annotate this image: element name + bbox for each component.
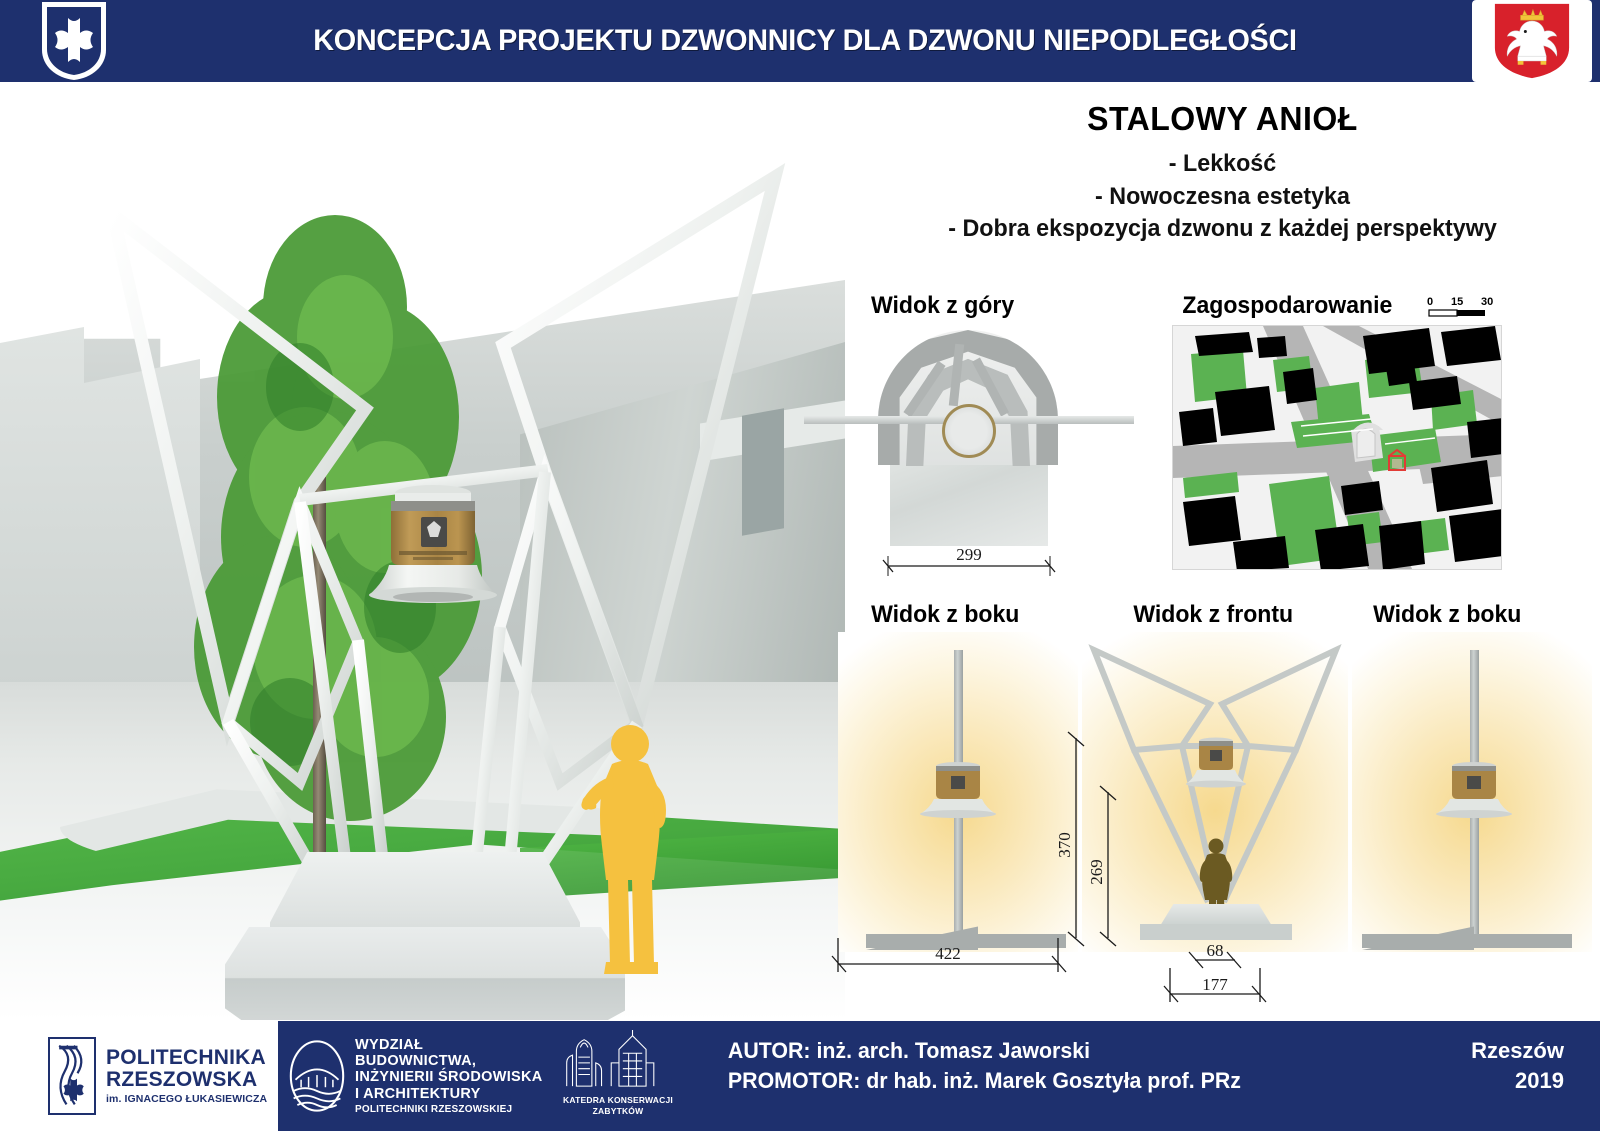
heading-site-plan: Zagospodarowanie xyxy=(1182,292,1392,320)
prz-line-1: POLITECHNIKA xyxy=(106,1047,267,1069)
map-scale-bar: 0 15 30 xyxy=(1425,293,1503,325)
logo-wydzial-budownictwa: WYDZIAŁ BUDOWNICTWA, INŻYNIERII ŚRODOWIS… xyxy=(288,1030,558,1122)
site-plan-map xyxy=(1172,325,1502,570)
promoter-line: PROMOTOR: dr hab. inż. Marek Gosztyła pr… xyxy=(728,1066,1241,1096)
dimension-68: 68 xyxy=(1207,941,1224,960)
top-view-drawing: 299 xyxy=(868,330,1068,565)
department-wordmark: KATEDRA KONSERWACJI ZABYTKÓW xyxy=(548,1095,688,1116)
prz-line-2: RZESZOWSKA xyxy=(106,1069,267,1091)
department-line-2: ZABYTKÓW xyxy=(548,1106,688,1117)
prz-wordmark: POLITECHNIKA RZESZOWSKA im. IGNACEGO ŁUK… xyxy=(106,1047,267,1105)
dimension-370: 370 xyxy=(1055,832,1074,858)
scale-tick-15: 15 xyxy=(1451,296,1463,308)
concept-text-block: STALOWY ANIOŁ - Lekkość - Nowoczesna est… xyxy=(845,100,1600,246)
heading-top-view: Widok z góry xyxy=(871,292,1014,320)
credits-block: AUTOR: inż. arch. Tomasz Jaworski PROMOT… xyxy=(728,1036,1241,1097)
faculty-line-2: BUDOWNICTWA, xyxy=(355,1053,543,1069)
concept-title: STALOWY ANIOŁ xyxy=(856,100,1588,138)
faculty-emblem-icon xyxy=(288,1038,346,1114)
faculty-line-4: I ARCHITEKTURY xyxy=(355,1086,543,1102)
logo-politechnika-rzeszowska: POLITECHNIKA RZESZOWSKA im. IGNACEGO ŁUK… xyxy=(48,1032,268,1120)
monuments-department-icon xyxy=(555,1030,681,1090)
poland-emblem-icon xyxy=(1472,0,1592,82)
concept-bullet-3: - Dobra ekspozycja dzwonu z każdej persp… xyxy=(856,213,1588,246)
independence-bell xyxy=(347,477,519,607)
concept-bullet-1: - Lekkość xyxy=(856,148,1588,181)
top-view-dimension: 299 xyxy=(868,542,1068,578)
poster-header: KONCEPCJA PROJEKTU DZWONNICY DLA DZWONU … xyxy=(0,0,1600,82)
faculty-line-3: INŻYNIERII ŚRODOWISKA xyxy=(355,1069,543,1085)
author-line: AUTOR: inż. arch. Tomasz Jaworski xyxy=(728,1036,1241,1066)
concept-bullet-list: - Lekkość - Nowoczesna estetyka - Dobra … xyxy=(845,148,1600,246)
faculty-line-1: WYDZIAŁ xyxy=(355,1037,543,1053)
place-year-block: Rzeszów 2019 xyxy=(1471,1036,1564,1097)
scale-tick-30: 30 xyxy=(1481,296,1493,308)
dimension-422: 422 xyxy=(935,944,961,963)
rzeszow-crest-icon xyxy=(38,0,110,82)
elevation-dimensions: 370 269 422 68 177 xyxy=(820,620,1600,1020)
prz-line-3: im. IGNACEGO ŁUKASIEWICZA xyxy=(106,1094,267,1105)
dimension-299: 299 xyxy=(956,545,982,564)
department-line-1: KATEDRA KONSERWACJI xyxy=(548,1095,688,1106)
faculty-wordmark: WYDZIAŁ BUDOWNICTWA, INŻYNIERII ŚRODOWIS… xyxy=(355,1037,543,1115)
faculty-subline: POLITECHNIKI RZESZOWSKIEJ xyxy=(355,1104,543,1115)
concept-bullet-2: - Nowoczesna estetyka xyxy=(856,181,1588,214)
dimension-269: 269 xyxy=(1087,859,1106,885)
poster-root: KONCEPCJA PROJEKTU DZWONNICY DLA DZWONU … xyxy=(0,0,1600,1131)
page-title: KONCEPCJA PROJEKTU DZWONNICY DLA DZWONU … xyxy=(167,0,1444,82)
human-scale-figure xyxy=(562,722,682,992)
visualization-render xyxy=(0,82,845,1020)
scale-tick-0: 0 xyxy=(1427,296,1433,308)
city-label: Rzeszów xyxy=(1471,1036,1564,1066)
logo-katedra-konserwacji: KATEDRA KONSERWACJI ZABYTKÓW xyxy=(548,1030,688,1122)
top-view-bell-ring xyxy=(942,404,996,458)
prz-monogram-icon xyxy=(48,1037,96,1115)
dimension-177: 177 xyxy=(1202,975,1228,994)
year-label: 2019 xyxy=(1471,1066,1564,1096)
